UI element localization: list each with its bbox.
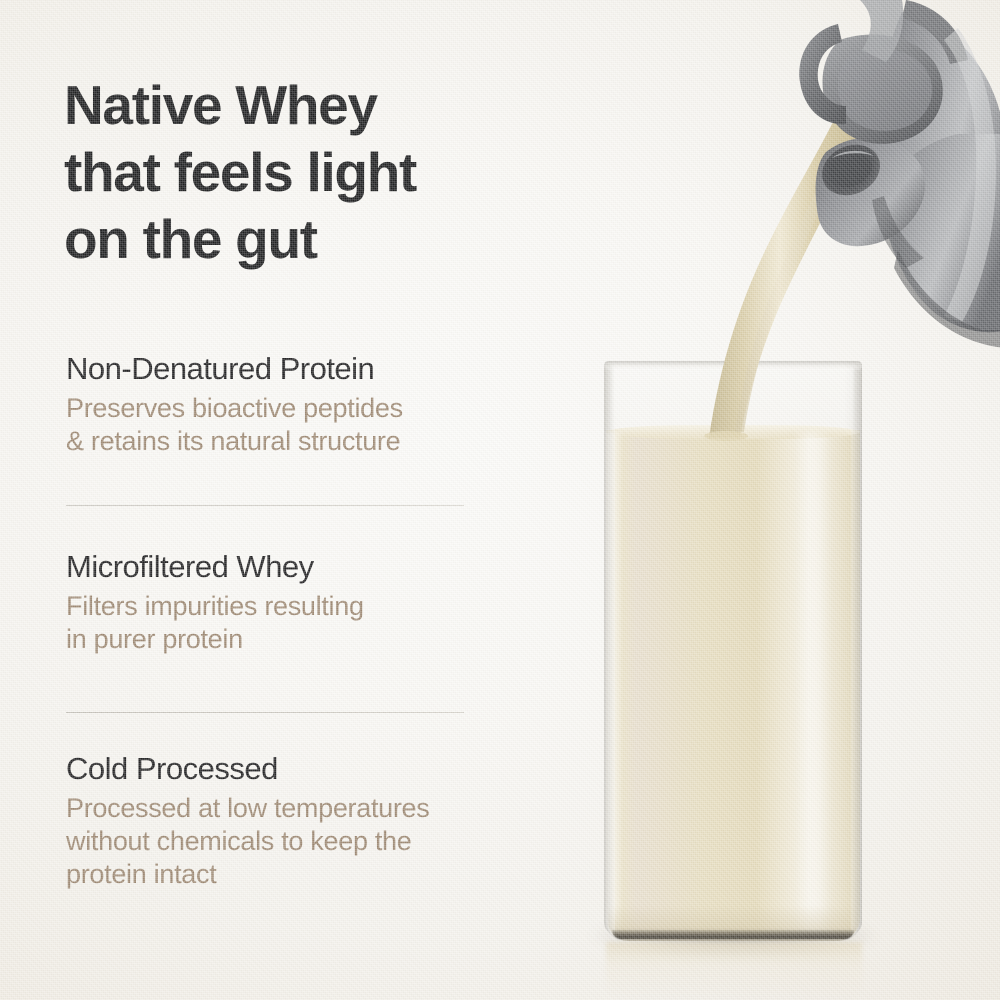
feature-body-line-2: & retains its natural structure [66,425,566,458]
feature-body-line-2: in purer protein [66,623,566,656]
divider-1 [66,505,464,506]
feature-title: Cold Processed [66,750,566,788]
feature-cold-processed: Cold Processed Processed at low temperat… [66,750,566,891]
infographic-canvas: Native Whey that feels light on the gut … [0,0,1000,1000]
headline-line-1: Native Whey [64,72,534,139]
feature-body: Filters impurities resulting in purer pr… [66,590,566,656]
feature-body: Preserves bioactive peptides & retains i… [66,392,566,458]
feature-title: Non-Denatured Protein [66,350,566,388]
feature-body-line-1: Filters impurities resulting [66,590,566,623]
feature-non-denatured-protein: Non-Denatured Protein Preserves bioactiv… [66,350,566,458]
feature-body-line-2: without chemicals to keep the [66,825,566,858]
headline-line-3: on the gut [64,206,534,273]
divider-2 [66,712,464,713]
feature-body-line-1: Processed at low temperatures [66,792,566,825]
feature-body-line-1: Preserves bioactive peptides [66,392,566,425]
feature-microfiltered-whey: Microfiltered Whey Filters impurities re… [66,548,566,656]
feature-title: Microfiltered Whey [66,548,566,586]
headline-line-2: that feels light [64,139,534,206]
feature-body: Processed at low temperatures without ch… [66,792,566,891]
feature-body-line-3: protein intact [66,858,566,891]
page-headline: Native Whey that feels light on the gut [64,72,534,273]
